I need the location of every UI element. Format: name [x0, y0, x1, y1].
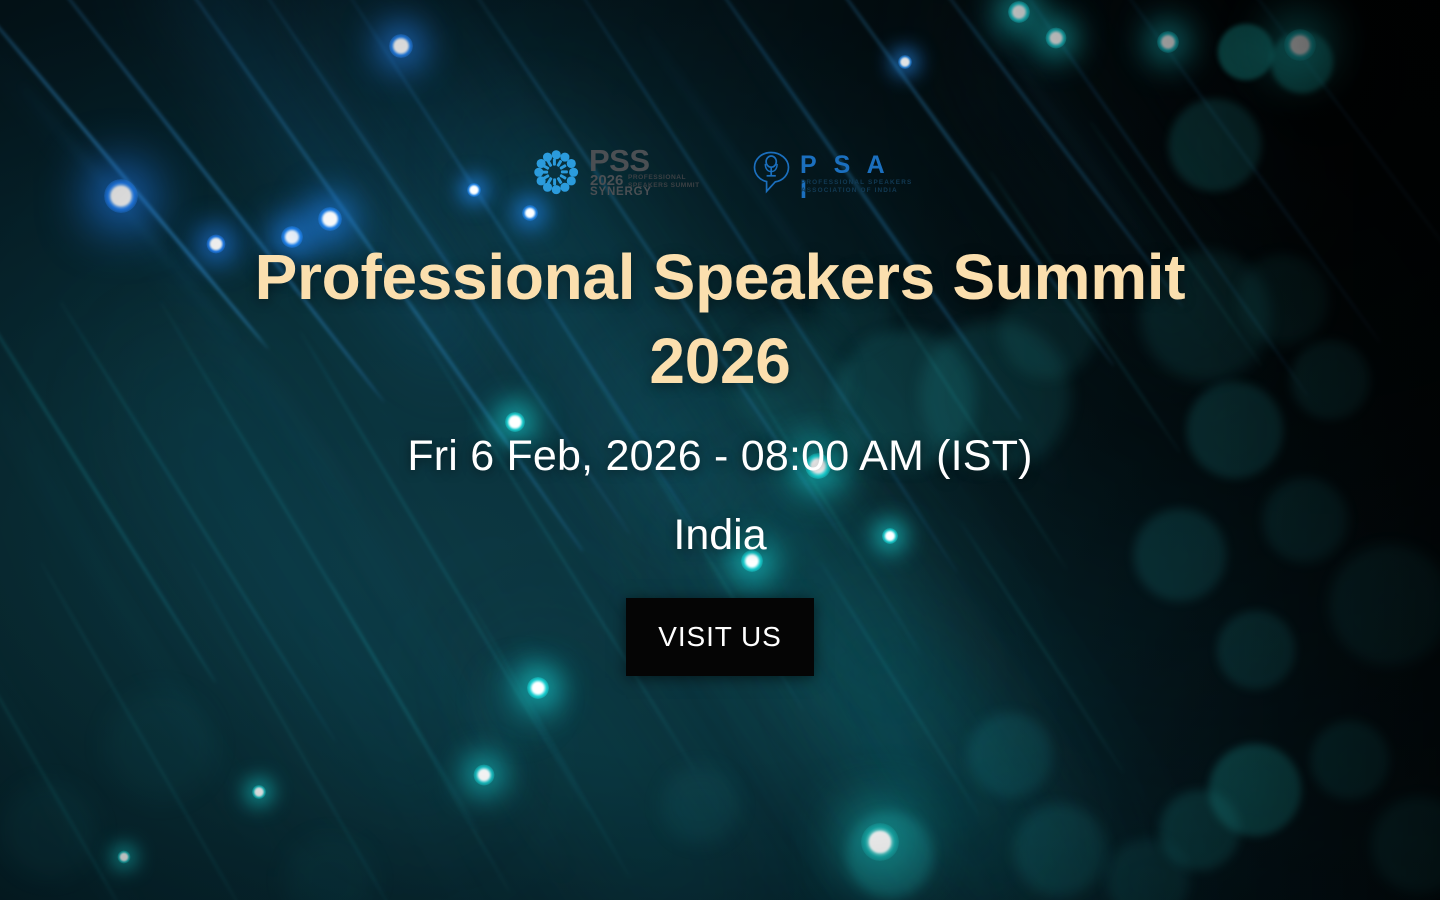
psai-logo-text: P S A I PROFESSIONAL SPEAKERS ASSOCIATIO…	[800, 150, 908, 194]
psai-tagline: PROFESSIONAL SPEAKERS ASSOCIATION OF IND…	[801, 179, 913, 196]
pss-logo-text: PSS 2026 SYNERGY PROFESSIONAL SPEAKERS S…	[589, 147, 696, 197]
event-location: India	[673, 514, 766, 557]
pss-logo[interactable]: PSS 2026 SYNERGY PROFESSIONAL SPEAKERS S…	[532, 143, 696, 201]
visit-us-button[interactable]: VISIT US	[626, 598, 814, 676]
pss-tagline: PROFESSIONAL SPEAKERS SUMMIT	[628, 174, 700, 191]
event-datetime: Fri 6 Feb, 2026 - 08:00 AM (IST)	[407, 435, 1032, 478]
psai-logo[interactable]: P S A I PROFESSIONAL SPEAKERS ASSOCIATIO…	[752, 144, 908, 200]
visit-us-label: VISIT US	[658, 623, 781, 651]
event-banner: PSS 2026 SYNERGY PROFESSIONAL SPEAKERS S…	[0, 0, 1440, 900]
page-title: Professional Speakers Summit 2026	[180, 235, 1260, 404]
banner-content: PSS 2026 SYNERGY PROFESSIONAL SPEAKERS S…	[0, 0, 1440, 900]
speech-bubble-microphone-icon	[752, 150, 792, 194]
radial-dot-ring-icon	[532, 148, 580, 196]
logo-row: PSS 2026 SYNERGY PROFESSIONAL SPEAKERS S…	[532, 141, 908, 203]
